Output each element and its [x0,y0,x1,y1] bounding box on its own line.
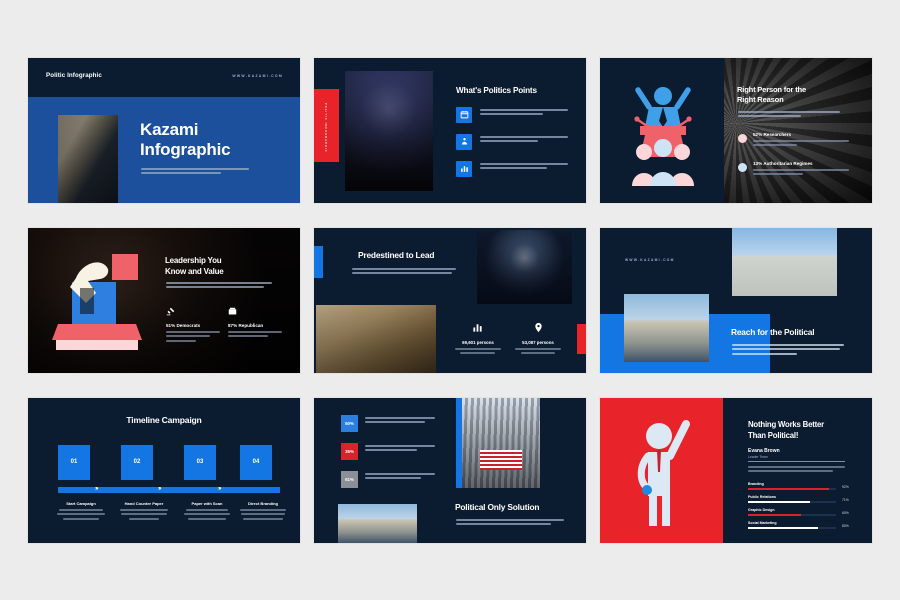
podium-people-icon [456,134,472,150]
slide-only-solution[interactable]: 50% 35% 61% Political Only Solution [314,398,586,543]
solution-stat-1-badge: 50% [341,415,358,432]
points-item-1-text [480,109,568,118]
predestined-stat-2-value: 53,087 persons [515,340,561,345]
solution-stat-2-text [365,445,435,454]
cover-title-line1: Kazami [140,120,198,140]
skill-4-fill [748,527,818,529]
nothing-person-role: Leader Team [748,455,768,459]
predestined-blue-accent [314,246,323,278]
leadership-body [166,282,272,291]
timeline-step-1-box[interactable]: 01 [58,445,90,480]
cover-website: WWW.KAZAMI.COM [232,74,283,78]
reach-photo-parliament [624,294,709,362]
stat-researchers-value: 52% Researchers [753,132,791,137]
timeline-step-1-text [55,509,107,520]
timeline-step-3-num: 03 [197,459,204,465]
skill-4-percent: 80% [842,524,849,528]
leadership-stat-1-value: 51% Democrats [166,323,200,328]
gavel-icon [166,307,175,316]
timeline-step-4-text [237,509,289,520]
person-raised-hand-icon [634,416,696,528]
slide-right-person[interactable]: Right Person for the Right Reason 52% Re… [600,58,872,203]
slide-nothing-works[interactable]: Nothing Works Better Than Political! Eva… [600,398,872,543]
solution-stat-3-text [365,473,435,482]
predestined-red-accent [577,324,586,354]
bar-chart-icon [456,161,472,177]
cover-title-line2: Infographic [140,140,230,160]
skill-2-fill [748,501,810,503]
points-red-accent: POLITIC INFOGRAPHIC [314,89,339,162]
predestined-stat-1-text [455,348,501,357]
leadership-title-line1: Leadership You [165,256,221,265]
calendar-icon [456,107,472,123]
timeline-step-3-label: Paper with Scan [181,501,233,506]
skill-1-label: Branding [748,482,764,486]
leadership-stat-2-value: 87% Republican [228,323,263,328]
solution-stat-3-badge: 61% [341,471,358,488]
points-vertical-label: POLITIC INFOGRAPHIC [324,103,327,153]
slide-timeline[interactable]: Timeline Campaign 01 02 03 04 ›››› ›››› … [28,398,300,543]
skill-2-label: Public Relations [748,495,776,499]
timeline-step-2-text [118,509,170,520]
points-item-3-text [480,163,568,172]
skill-4-track [748,527,836,529]
skill-1-fill [748,488,829,490]
skill-4-label: Social Marketing [748,521,777,525]
cover-photo-podium [58,115,118,203]
timeline-arrow-3-icon: ›››› [218,486,220,492]
points-item-2-text [480,136,568,145]
skill-3-track [748,514,836,516]
skill-3-percent: 60% [842,511,849,515]
stat-bullet-researchers [738,134,747,143]
points-title: What's Politics Points [456,86,537,96]
slide-cover[interactable]: Politic Infographic WWW.KAZAMI.COM Kazam… [28,58,300,203]
timeline-step-4-label: Direct Branding [237,501,289,506]
timeline-step-4-num: 04 [253,459,260,465]
timeline-arrow-1-icon: ›››› [95,486,97,492]
timeline-step-2-box[interactable]: 02 [121,445,153,480]
solution-title: Political Only Solution [455,503,539,513]
slide-politics-points[interactable]: POLITIC INFOGRAPHIC What's Politics Poin… [314,58,586,203]
skill-1-percent: 92% [842,485,849,489]
right-person-body [738,111,840,120]
ballot-icon [228,307,237,316]
nothing-title-line1: Nothing Works Better [748,420,824,429]
solution-body [456,519,564,528]
stat-researchers-text [753,140,849,149]
reach-body [732,344,844,358]
slide-reach[interactable]: WWW.KAZAMI.COM Reach for the Political [600,228,872,373]
skill-1-track [748,488,836,490]
slide-grid: Politic Infographic WWW.KAZAMI.COM Kazam… [0,0,900,600]
nothing-person-name: Evana Brown [748,448,780,454]
predestined-title: Predestined to Lead [358,251,434,261]
timeline-title: Timeline Campaign [28,415,300,425]
reach-website: WWW.KAZAMI.COM [625,258,675,262]
predestined-photo-hall [316,305,436,373]
timeline-step-4-box[interactable]: 04 [240,445,272,480]
leadership-stat-1-text [166,331,220,345]
timeline-step-2-label: Hand Counter Paper [118,501,170,506]
timeline-arrow-2-icon: ›››› [158,486,160,492]
solution-stat-2-badge: 35% [341,443,358,460]
stat-authoritarian-value: 13% Authoritarian Regimes [753,161,813,166]
speaker-crowd-illustration [624,74,702,188]
stat-bullet-authoritarian [738,163,747,172]
ballot-box-illustration [50,250,146,350]
timeline-step-1-num: 01 [71,459,78,465]
predestined-photo-capitol [477,230,572,304]
reach-title: Reach for the Political [731,328,814,338]
slide-leadership[interactable]: Leadership You Know and Value 51% Democr… [28,228,300,373]
bar-chart-icon [469,321,485,335]
skill-3-fill [748,514,801,516]
skill-2-track [748,501,836,503]
nothing-title-line2: Than Political! [748,431,798,440]
skill-3-label: Graphic Design [748,508,775,512]
nothing-divider [748,461,845,462]
solution-flag-decoration [480,450,522,470]
timeline-step-3-text [181,509,233,520]
predestined-stat-2-text [515,348,561,357]
slide-predestined[interactable]: Predestined to Lead 69,601 persons 53,08… [314,228,586,373]
skill-2-percent: 71% [842,498,849,502]
timeline-step-3-box[interactable]: 03 [184,445,216,480]
right-person-title-line1: Right Person for the [737,86,806,95]
cover-header-label: Politic Infographic [46,72,102,79]
solution-photo-parliament [338,504,417,543]
solution-stat-1-text [365,417,435,426]
stat-authoritarian-text [753,169,849,178]
timeline-connector-bar [58,487,280,493]
cover-body-text [141,168,249,177]
leadership-stat-2-text [228,331,282,340]
solution-photo-interior [462,398,540,488]
location-pin-icon [530,320,546,336]
timeline-step-2-num: 02 [134,459,141,465]
nothing-body [748,466,845,475]
leadership-title-line2: Know and Value [165,267,224,276]
predestined-stat-1-value: 69,601 persons [455,340,501,345]
right-person-title-line2: Right Reason [737,96,784,105]
reach-photo-courthouse [732,228,837,296]
predestined-body [352,268,456,277]
points-photo-crowd [345,71,433,191]
timeline-step-1-label: Start Campaign [55,501,107,506]
